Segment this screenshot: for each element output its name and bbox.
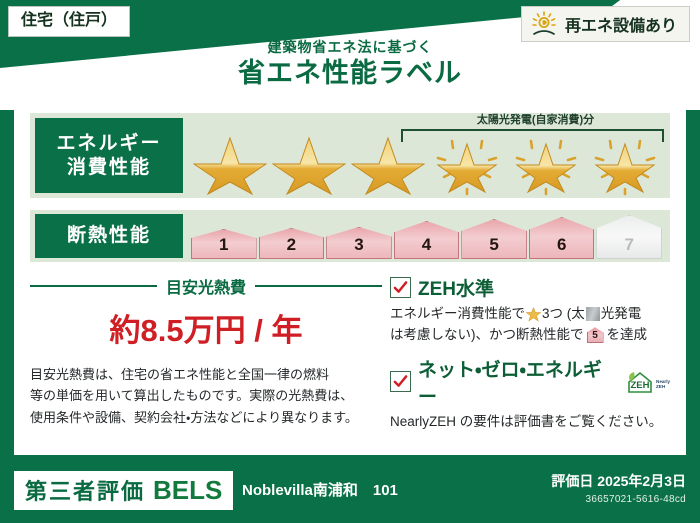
evaluation-date: 評価日 2025年2月3日	[551, 471, 686, 491]
star-6-solar	[588, 128, 662, 196]
zeh-standard-checkbox	[390, 277, 411, 298]
insulation-level-2: 2	[259, 228, 325, 259]
insulation-level-7: 7	[596, 215, 662, 259]
solar-sun-icon	[530, 11, 558, 37]
energy-performance-label-line1: エネルギー	[56, 132, 161, 156]
insulation-level-3-label: 3	[354, 235, 363, 255]
check-icon	[393, 374, 408, 389]
renewable-equipment-badge: 再エネ設備あり	[521, 6, 690, 42]
zeh-standard-line1-c: 光発電	[601, 304, 642, 325]
zeh-standard-title: ZEH水準	[418, 274, 494, 301]
star-1	[193, 128, 267, 196]
star-3	[351, 128, 425, 196]
solar-caption: 太陽光発電(自家消費)分	[401, 111, 670, 127]
insulation-level-4-label: 4	[422, 235, 431, 255]
insulation-level-6: 6	[529, 217, 595, 259]
utility-cost-heading-row: 目安光熱費	[30, 274, 382, 298]
header-titles: 建築物省エネ法に基づく 省エネ性能ラベル	[0, 40, 700, 89]
insulation-level-1-label: 1	[219, 235, 228, 255]
utility-cost-note-line1: 目安光熱費は、住宅の省エネ性能と全国一律の燃料	[30, 364, 382, 385]
insulation-level-badge-inline: 5	[587, 327, 604, 343]
star-icon	[351, 128, 425, 196]
net-zero-note: NearlyZEH の要件は評価書をご覧ください。	[390, 412, 670, 433]
insulation-performance-row: 断熱性能 1 2 3 4 5 6 7	[30, 210, 670, 262]
building-name: Noblevilla南浦和 101	[242, 479, 398, 500]
footer: 第三者評価 BELS Noblevilla南浦和 101 評価日 2025年2月…	[0, 461, 700, 523]
star-solar-icon	[588, 128, 662, 196]
insulation-performance-label: 断熱性能	[67, 224, 151, 248]
check-icon	[393, 280, 408, 295]
zeh-section: ZEH水準 エネルギー消費性能で 3つ (太 光発電 は考慮しない)、かつ断熱性…	[382, 272, 670, 433]
star-solar-icon	[430, 128, 504, 196]
rule-right	[255, 285, 382, 287]
renewable-equipment-label: 再エネ設備あり	[565, 12, 677, 36]
zeh-standard-header: ZEH水準	[390, 274, 670, 301]
third-party-label: 第三者評価	[25, 474, 145, 506]
energy-performance-row: エネルギー 消費性能 太陽光発電(自家消費)分	[30, 113, 670, 198]
utility-cost-value: 約8.5万円 / 年	[30, 305, 382, 350]
energy-performance-stars-area: 太陽光発電(自家消費)分	[183, 113, 670, 198]
zeh-standard-line1: エネルギー消費性能で 3つ (太 光発電	[390, 304, 670, 325]
zeh-standard-line2-a: は考慮しない)、かつ断熱性能で	[390, 325, 584, 346]
zeh-standard-line2-b: を達成	[607, 325, 648, 346]
insulation-level-3: 3	[326, 227, 392, 259]
svg-text:ZEH: ZEH	[656, 384, 666, 389]
insulation-level-7-label: 7	[625, 235, 634, 255]
utility-cost-section: 目安光熱費 約8.5万円 / 年 目安光熱費は、住宅の省エネ性能と全国一律の燃料…	[30, 272, 382, 433]
header-subtitle: 建築物省エネ法に基づく	[0, 40, 700, 55]
net-zero-note-line: NearlyZEH の要件は評価書をご覧ください。	[390, 412, 670, 433]
zeh-logo-icon: ZEH Nearly ZEH	[624, 369, 670, 395]
insulation-performance-label-box: 断熱性能	[35, 214, 183, 258]
utility-cost-heading: 目安光熱費	[166, 274, 246, 298]
insulation-level-5-label: 5	[489, 235, 498, 255]
energy-performance-label-line2: 消費性能	[67, 156, 151, 180]
redacted-block-icon	[586, 307, 600, 321]
utility-cost-note-line2: 等の単価を用いて算出したものです。実際の光熱費は、	[30, 385, 382, 406]
star-icon	[193, 128, 267, 196]
insulation-level-1: 1	[191, 229, 257, 259]
zeh-standard-line1-a: エネルギー消費性能で	[390, 304, 525, 325]
insulation-scale-area: 1 2 3 4 5 6 7	[183, 210, 670, 262]
net-zero-header: ネット・ゼロ・エネルギー ZEH Nearly ZEH	[390, 355, 670, 409]
certificate-number: 36657021-5616-48cd	[551, 494, 686, 505]
insulation-scale: 1 2 3 4 5 6 7	[191, 215, 662, 259]
zeh-standard-description: エネルギー消費性能で 3つ (太 光発電 は考慮しない)、かつ断熱性能で 5	[390, 304, 670, 346]
insulation-level-6-label: 6	[557, 235, 566, 255]
star-2	[272, 128, 346, 196]
zeh-standard-line2: は考慮しない)、かつ断熱性能で 5 を達成	[390, 325, 670, 346]
star-5-solar	[509, 128, 583, 196]
bels-label: BELS	[153, 475, 222, 506]
insulation-level-badge-inline-label: 5	[587, 327, 604, 345]
lower-section: 目安光熱費 約8.5万円 / 年 目安光熱費は、住宅の省エネ性能と全国一律の燃料…	[30, 272, 670, 433]
bels-badge: 第三者評価 BELS	[14, 471, 233, 510]
utility-cost-note: 目安光熱費は、住宅の省エネ性能と全国一律の燃料 等の単価を用いて算出したものです…	[30, 364, 382, 428]
main-panel: エネルギー 消費性能 太陽光発電(自家消費)分	[14, 100, 686, 455]
energy-performance-label-box: エネルギー 消費性能	[35, 118, 183, 193]
insulation-level-4: 4	[394, 221, 460, 259]
insulation-level-5: 5	[461, 219, 527, 259]
star-4-solar	[430, 128, 504, 196]
footer-meta: 評価日 2025年2月3日 36657021-5616-48cd	[551, 471, 686, 505]
net-zero-title: ネット・ゼロ・エネルギー	[418, 355, 613, 409]
utility-cost-note-line3: 使用条件や設備、契約会社・方法などにより異なります。	[30, 407, 382, 428]
star-rating	[193, 128, 662, 196]
zeh-standard-line1-b: 3つ (太	[542, 304, 585, 325]
insulation-level-2-label: 2	[287, 235, 296, 255]
rule-left	[30, 285, 157, 287]
building-type-badge: 住宅（住戸）	[8, 6, 130, 37]
star-icon	[526, 307, 541, 322]
svg-text:ZEH: ZEH	[631, 380, 650, 391]
page-title: 省エネ性能ラベル	[0, 59, 700, 89]
net-zero-checkbox	[390, 371, 411, 392]
star-solar-icon	[509, 128, 583, 196]
star-icon	[272, 128, 346, 196]
energy-performance-label: 住宅（住戸） 再エネ設備あり 建築物省エネ法に基づく 省エネ性能ラベル	[0, 0, 700, 523]
